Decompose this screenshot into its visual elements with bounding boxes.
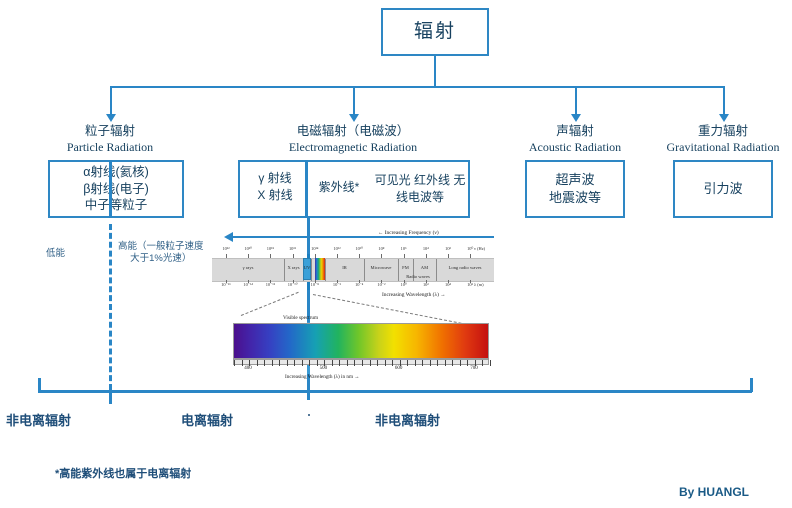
branch-header-acoustic: 声辐射 Acoustic Radiation bbox=[529, 124, 621, 155]
label-high-energy: 高能（一般粒子速度 大于1%光速） bbox=[118, 241, 204, 266]
content-box-particle: α射线(氦核) β射线(电子) 中子等粒子 bbox=[48, 160, 184, 218]
root-label: 辐射 bbox=[414, 19, 456, 45]
branch-title-cn-electromagnetic: 电磁辐射（电磁波） bbox=[289, 124, 417, 140]
visible-ruler-tick bbox=[452, 360, 453, 366]
visible-spectrum-title: Visible spectrum bbox=[283, 315, 318, 321]
wavelength-tick-mark bbox=[270, 280, 271, 283]
visible-ruler-tick bbox=[415, 360, 416, 366]
visible-ruler-tick bbox=[287, 360, 288, 366]
particle-line-3: 中子等粒子 bbox=[83, 197, 149, 214]
frequency-axis-caption: ← Increasing Frequency (ν) bbox=[378, 230, 439, 236]
visible-ruler-tick bbox=[354, 360, 355, 366]
acoustic-line-1: 超声波 bbox=[549, 171, 601, 189]
branch-header-particle: 粒子辐射 Particle Radiation bbox=[67, 124, 153, 155]
spectrum-divider bbox=[325, 259, 326, 281]
visible-tick-number: 400 bbox=[244, 366, 252, 371]
arrow-icon-gravitational bbox=[719, 114, 729, 122]
axis-label-nonionizing-left: 非电离辐射 bbox=[6, 410, 71, 429]
visible-ruler-tick bbox=[279, 360, 280, 366]
visible-spectrum-gradient bbox=[233, 323, 489, 359]
visible-ruler-tick bbox=[332, 360, 333, 366]
wavelength-tick-mark bbox=[226, 280, 227, 283]
visible-ruler-tick bbox=[490, 360, 491, 366]
wavelength-tick-mark bbox=[448, 280, 449, 283]
spectrum-band-bar bbox=[212, 258, 494, 282]
visible-spectrum-caption: Increasing Wavelength (λ) in nm → bbox=[285, 374, 359, 380]
radio-waves-sublabel: Radio waves bbox=[398, 274, 438, 279]
root-trunk-line bbox=[434, 56, 436, 86]
em-group-uv: 紫外线* bbox=[306, 178, 372, 195]
label-high-energy-line2: 大于1%光速） bbox=[130, 253, 191, 264]
frequency-axis-unit: ν (Hz) bbox=[474, 246, 485, 251]
frequency-tick-label: 10¹⁰ bbox=[355, 246, 362, 252]
wavelength-tick-mark bbox=[315, 280, 316, 283]
label-low-energy: 低能 bbox=[46, 248, 65, 260]
frequency-tick-label: 10⁴ bbox=[423, 246, 429, 251]
particle-line-1: α射线(氦核) bbox=[83, 164, 149, 181]
drop-line-electromagnetic bbox=[353, 86, 355, 116]
axis-cap-right bbox=[750, 378, 753, 392]
branch-header-electromagnetic: 电磁辐射（电磁波） Electromagnetic Radiation bbox=[289, 124, 417, 155]
axis-label-nonionizing-right: 非电离辐射 bbox=[375, 410, 440, 429]
frequency-tick-label: 10¹⁴ bbox=[311, 246, 318, 251]
branch-title-cn-gravitational: 重力辐射 bbox=[667, 124, 780, 140]
spectrum-band-label: IR bbox=[325, 265, 364, 270]
spectrum-band-label: FM bbox=[398, 265, 413, 270]
wavelength-tick-mark bbox=[248, 280, 249, 283]
em-group-visible-ir-radio: 可见光 红外线 无 线电波等 bbox=[374, 172, 466, 207]
frequency-tick-label: 10⁰ bbox=[467, 246, 473, 252]
content-box-gravitational: 引力波 bbox=[673, 160, 773, 218]
visible-ruler-tick bbox=[482, 360, 483, 366]
acoustic-line-2: 地震波等 bbox=[549, 189, 601, 207]
spectrum-band-label: UV bbox=[303, 265, 311, 270]
root-node-radiation: 辐射 bbox=[381, 8, 489, 56]
branch-title-en-gravitational: Gravitational Radiation bbox=[667, 140, 780, 155]
gravitational-line-1: 引力波 bbox=[703, 180, 742, 198]
spectrum-divider bbox=[364, 259, 365, 281]
visible-ruler-tick bbox=[234, 360, 235, 366]
branch-title-cn-particle: 粒子辐射 bbox=[67, 124, 153, 140]
visible-ruler-tick bbox=[272, 360, 273, 366]
visible-tick-number: 700 bbox=[470, 366, 478, 371]
visible-ruler-tick bbox=[385, 360, 386, 366]
branch-header-gravitational: 重力辐射 Gravitational Radiation bbox=[667, 124, 780, 155]
arrow-icon-acoustic bbox=[571, 114, 581, 122]
visible-ruler-tick bbox=[430, 360, 431, 366]
visible-band-strip bbox=[315, 258, 325, 280]
branch-title-cn-acoustic: 声辐射 bbox=[529, 124, 621, 140]
drop-line-acoustic bbox=[575, 86, 577, 116]
wavelength-tick-mark bbox=[426, 280, 427, 283]
axis-tick-uv bbox=[307, 382, 310, 400]
visible-ruler-tick bbox=[294, 360, 295, 366]
visible-ruler-tick bbox=[257, 360, 258, 366]
branch-title-en-particle: Particle Radiation bbox=[67, 140, 153, 155]
visible-ruler-tick bbox=[407, 360, 408, 366]
particle-divider-inbox bbox=[109, 160, 112, 218]
axis-tick-particle bbox=[109, 390, 112, 404]
spectrum-divider bbox=[284, 259, 285, 281]
drop-line-particle bbox=[110, 86, 112, 116]
spectrum-band-label: Microwave bbox=[364, 265, 398, 270]
particle-divider-dashed bbox=[109, 224, 112, 390]
visible-ruler-tick bbox=[467, 360, 468, 366]
wavelength-tick-mark bbox=[293, 280, 294, 283]
drop-line-gravitational bbox=[723, 86, 725, 116]
spectrum-divider bbox=[311, 259, 312, 281]
visible-tick-number: 500 bbox=[320, 366, 328, 371]
visible-ruler-tick bbox=[302, 360, 303, 366]
em-visible-line-1: 可见光 红外线 无 bbox=[374, 172, 466, 189]
branch-bus-line bbox=[110, 86, 724, 88]
visible-ruler-tick bbox=[339, 360, 340, 366]
visible-ruler-tick bbox=[392, 360, 393, 366]
wavelength-tick-mark bbox=[404, 280, 405, 283]
visible-ruler-tick bbox=[242, 360, 243, 366]
em-divider-uv-left bbox=[305, 160, 308, 218]
wavelength-tick-mark bbox=[359, 280, 360, 283]
em-spectrum-chart: ← Increasing Frequency (ν) 10²²10²⁰10¹⁸1… bbox=[212, 234, 494, 306]
visible-ruler-tick bbox=[445, 360, 446, 366]
axis-dot-marker bbox=[308, 414, 310, 416]
wavelength-tick-mark bbox=[337, 280, 338, 283]
frequency-tick-label: 10⁸ bbox=[378, 246, 384, 251]
visible-ruler-tick bbox=[362, 360, 363, 366]
spectrum-band-label: γ rays bbox=[212, 265, 284, 270]
label-high-energy-line1: 高能（一般粒子速度 bbox=[118, 241, 204, 252]
frequency-axis-line bbox=[230, 236, 494, 238]
visible-spectrum-ruler bbox=[233, 359, 489, 365]
spectrum-band-label: AM bbox=[413, 265, 436, 270]
author-signature: By HUANGL bbox=[679, 485, 749, 499]
wavelength-axis-unit: λ (m) bbox=[474, 282, 484, 287]
visible-ruler-tick bbox=[264, 360, 265, 366]
wavelength-axis-caption: Increasing Wavelength (λ) → bbox=[382, 292, 446, 298]
visible-ruler-tick bbox=[460, 360, 461, 366]
frequency-tick-label: 10²⁰ bbox=[244, 246, 251, 252]
frequency-tick-label: 10⁶ bbox=[401, 246, 407, 251]
particle-line-2: β射线(电子) bbox=[83, 181, 149, 198]
em-xray-line: X 射线 bbox=[246, 187, 304, 204]
visible-ruler-tick bbox=[309, 360, 310, 366]
footnote-text: *高能紫外线也属于电离辐射 bbox=[55, 465, 191, 481]
axis-cap-left bbox=[38, 378, 41, 392]
arrow-icon-particle bbox=[106, 114, 116, 122]
content-box-acoustic: 超声波 地震波等 bbox=[525, 160, 625, 218]
visible-ruler-tick bbox=[317, 360, 318, 366]
frequency-tick-label: 10¹⁸ bbox=[267, 246, 274, 251]
visible-ruler-tick bbox=[377, 360, 378, 366]
em-group-gamma-xray: γ 射线 X 射线 bbox=[246, 170, 304, 205]
frequency-tick-label: 10² bbox=[445, 246, 451, 251]
arrow-icon-electromagnetic bbox=[349, 114, 359, 122]
ionizing-axis-line bbox=[38, 390, 752, 393]
spectrum-band-label: Long radio waves bbox=[436, 265, 494, 270]
branch-title-en-electromagnetic: Electromagnetic Radiation bbox=[289, 140, 417, 155]
visible-tick-number: 600 bbox=[395, 366, 403, 371]
axis-label-ionizing: 电离辐射 bbox=[181, 410, 233, 429]
frequency-tick-label: 10¹² bbox=[333, 246, 340, 251]
visible-ruler-tick bbox=[370, 360, 371, 366]
wavelength-tick-mark bbox=[381, 280, 382, 283]
diagram-canvas: 辐射 粒子辐射 Particle Radiation 电磁辐射（电磁波） Ele… bbox=[0, 0, 792, 508]
wavelength-tick-mark bbox=[470, 280, 471, 283]
em-visible-line-2: 线电波等 bbox=[374, 189, 466, 206]
visible-ruler-tick bbox=[347, 360, 348, 366]
visible-ruler-tick bbox=[437, 360, 438, 366]
branch-title-en-acoustic: Acoustic Radiation bbox=[529, 140, 621, 155]
visible-ruler-tick bbox=[422, 360, 423, 366]
em-gamma-line: γ 射线 bbox=[246, 170, 304, 187]
frequency-tick-label: 10¹⁶ bbox=[289, 246, 296, 251]
visible-spectrum-inset: Visible spectrum 400500600700 Increasing… bbox=[233, 316, 489, 372]
em-uv-line: 紫外线* bbox=[306, 178, 372, 195]
frequency-tick-label: 10²² bbox=[222, 246, 229, 251]
spectrum-band-label: X rays bbox=[284, 265, 303, 270]
